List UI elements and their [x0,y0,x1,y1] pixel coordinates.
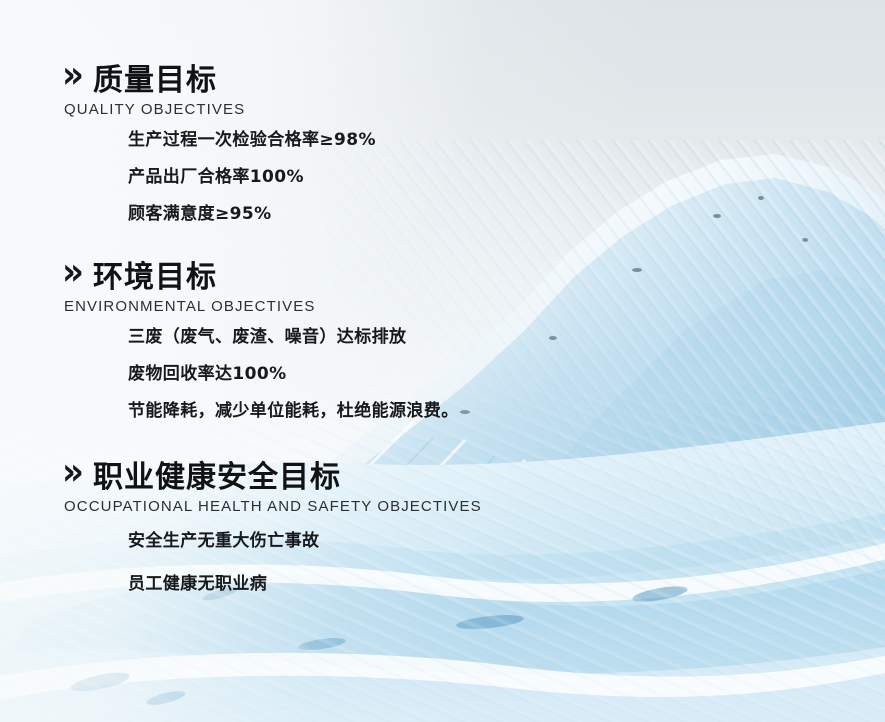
heading-quality: » 质量目标 [0,55,885,99]
heading-ohs: » 职业健康安全目标 [0,452,885,496]
list-item: 节能降耗，减少单位能耗，杜绝能源浪费。 [128,403,885,420]
section-title-cn: 职业健康安全目标 [93,452,341,496]
section-title-en: ENVIRONMENTAL OBJECTIVES [0,298,885,315]
content-layer: » 质量目标 QUALITY OBJECTIVES 生产过程一次检验合格率≥98… [0,0,885,722]
list-item: 废物回收率达100% [128,366,885,383]
list-item: 产品出厂合格率100% [128,169,885,186]
list-item: 三废（废气、废渣、噪音）达标排放 [128,329,885,346]
list-item: 安全生产无重大伤亡事故 [128,533,885,550]
section-title-cn: 质量目标 [93,55,217,99]
objectives-poster: » 质量目标 QUALITY OBJECTIVES 生产过程一次检验合格率≥98… [0,0,885,722]
section-title-en: OCCUPATIONAL HEALTH AND SAFETY OBJECTIVE… [0,498,885,515]
heading-environmental: » 环境目标 [0,252,885,296]
double-chevron-right-icon: » [62,453,81,491]
objective-list-quality: 生产过程一次检验合格率≥98% 产品出厂合格率100% 顾客满意度≥95% [0,132,885,223]
objective-list-environmental: 三废（废气、废渣、噪音）达标排放 废物回收率达100% 节能降耗，减少单位能耗，… [0,329,885,420]
section-quality: » 质量目标 QUALITY OBJECTIVES 生产过程一次检验合格率≥98… [0,55,885,223]
section-environmental: » 环境目标 ENVIRONMENTAL OBJECTIVES 三废（废气、废渣… [0,252,885,420]
list-item: 生产过程一次检验合格率≥98% [128,132,885,149]
list-item: 顾客满意度≥95% [128,206,885,223]
section-title-en: QUALITY OBJECTIVES [0,101,885,118]
double-chevron-right-icon: » [62,253,81,291]
objective-list-ohs: 安全生产无重大伤亡事故 员工健康无职业病 [0,533,885,593]
double-chevron-right-icon: » [62,56,81,94]
section-title-cn: 环境目标 [93,252,217,296]
section-ohs: » 职业健康安全目标 OCCUPATIONAL HEALTH AND SAFET… [0,452,885,619]
list-item: 员工健康无职业病 [128,576,885,593]
